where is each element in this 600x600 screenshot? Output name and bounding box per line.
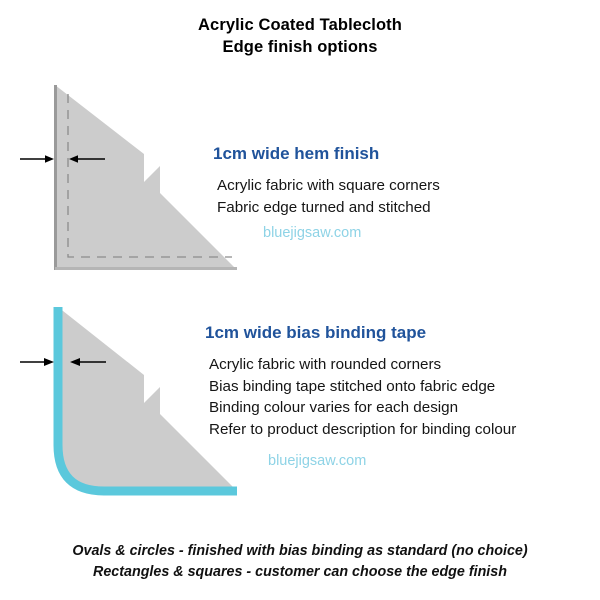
list-item: Acrylic fabric with rounded corners [209,354,600,376]
list-item: Binding colour varies for each design [209,397,600,419]
section-hem-heading: 1cm wide hem finish [213,143,600,165]
section-hem-text: 1cm wide hem finish Acrylic fabric with … [206,143,600,243]
infographic-page: Acrylic Coated Tablecloth Edge finish op… [0,0,600,600]
arrow-head-right-icon [45,155,54,163]
site-link-bias[interactable]: bluejigsaw.com [268,451,600,471]
arrow-head-right-icon [44,358,54,366]
section-bias-bullets: Acrylic fabric with rounded corners Bias… [209,354,600,440]
list-item: Bias binding tape stitched onto fabric e… [209,376,600,398]
page-title-line-1: Acrylic Coated Tablecloth [0,14,600,36]
footer-line-1: Ovals & circles - finished with bias bin… [0,541,600,562]
list-item: Acrylic fabric with square corners [217,175,600,197]
page-title-line-2: Edge finish options [0,36,600,58]
site-link-hem[interactable]: bluejigsaw.com [263,223,600,243]
section-bias-heading: 1cm wide bias binding tape [205,322,600,344]
footer-note: Ovals & circles - finished with bias bin… [0,541,600,583]
page-title: Acrylic Coated Tablecloth Edge finish op… [0,14,600,58]
list-item: Refer to product description for binding… [209,419,600,441]
section-hem-bullets: Acrylic fabric with square corners Fabri… [217,175,600,218]
footer-line-2: Rectangles & squares - customer can choo… [0,562,600,583]
section-bias-text: 1cm wide bias binding tape Acrylic fabri… [196,322,600,471]
list-item: Fabric edge turned and stitched [217,197,600,219]
